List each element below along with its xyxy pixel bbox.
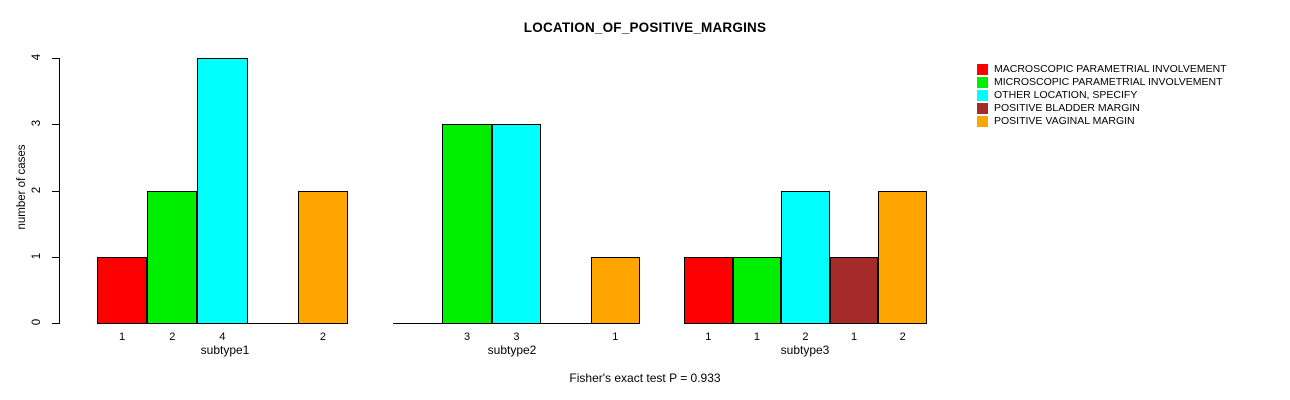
bar-value-label: 2 [147,331,197,343]
y-axis-label: number of cases [16,117,28,257]
legend-item[interactable]: OTHER LOCATION, SPECIFY [977,89,1227,102]
bar-value-label: 1 [733,331,782,343]
legend-item[interactable]: MACROSCOPIC PARAMETRIAL INVOLVEMENT [977,63,1227,76]
y-axis-tick [52,124,59,125]
bar-group-subtype2: 331 [393,0,640,400]
bar[interactable] [442,124,491,324]
bar[interactable] [147,191,197,325]
bar-group-subtype3: 11212 [684,0,927,400]
legend-swatch-icon [977,116,988,127]
chart-subtitle: Fisher's exact test P = 0.933 [0,371,1290,385]
y-axis-line [59,58,60,324]
legend-swatch-icon [977,77,988,88]
bar[interactable] [733,257,782,324]
bar-value-label: 3 [492,331,541,343]
legend-item-label: OTHER LOCATION, SPECIFY [994,89,1137,102]
bar-value-label: 2 [298,331,348,343]
bar-value-label: 4 [197,331,247,343]
legend-item-label: MICROSCOPIC PARAMETRIAL INVOLVEMENT [994,76,1223,89]
bar[interactable] [97,257,147,324]
bar-value-label: 1 [591,331,640,343]
bar-value-label: 2 [878,331,927,343]
x-axis-group-label: subtype3 [745,343,865,357]
bar-value-label: 2 [781,331,830,343]
legend-item[interactable]: POSITIVE VAGINAL MARGIN [977,115,1227,128]
bar-value-label: 1 [684,331,733,343]
bar[interactable] [781,191,830,325]
bar[interactable] [591,257,640,324]
legend-item-label: POSITIVE BLADDER MARGIN [994,102,1140,115]
y-axis-tick [52,257,59,258]
legend-swatch-icon [977,64,988,75]
bar[interactable] [298,191,348,325]
legend-item[interactable]: MICROSCOPIC PARAMETRIAL INVOLVEMENT [977,76,1227,89]
legend-swatch-icon [977,90,988,101]
chart-legend: MACROSCOPIC PARAMETRIAL INVOLVEMENTMICRO… [977,63,1227,128]
y-axis-tick-label: 4 [31,47,43,67]
y-axis-tick-label: 1 [31,246,43,266]
y-axis-tick [52,323,59,324]
legend-item[interactable]: POSITIVE BLADDER MARGIN [977,102,1227,115]
chart-canvas: LOCATION_OF_POSITIVE_MARGINS number of c… [0,0,1290,400]
bar-group-subtype1: 1242 [97,0,348,400]
bar-value-label: 3 [442,331,491,343]
bar[interactable] [492,124,541,324]
bar-value-label: 1 [97,331,147,343]
bar[interactable] [197,58,247,324]
y-axis-tick [52,191,59,192]
y-axis-tick [52,58,59,59]
bar[interactable] [830,257,879,324]
legend-swatch-icon [977,103,988,114]
y-axis-tick-label: 3 [31,113,43,133]
bar-value-label: 1 [830,331,879,343]
x-axis-group-label: subtype1 [165,343,285,357]
bar[interactable] [878,191,927,325]
y-axis-tick-label: 2 [31,180,43,200]
y-axis-tick-label: 0 [31,312,43,332]
x-axis-group-label: subtype2 [452,343,572,357]
legend-item-label: MACROSCOPIC PARAMETRIAL INVOLVEMENT [994,63,1227,76]
legend-item-label: POSITIVE VAGINAL MARGIN [994,115,1135,128]
bar[interactable] [684,257,733,324]
